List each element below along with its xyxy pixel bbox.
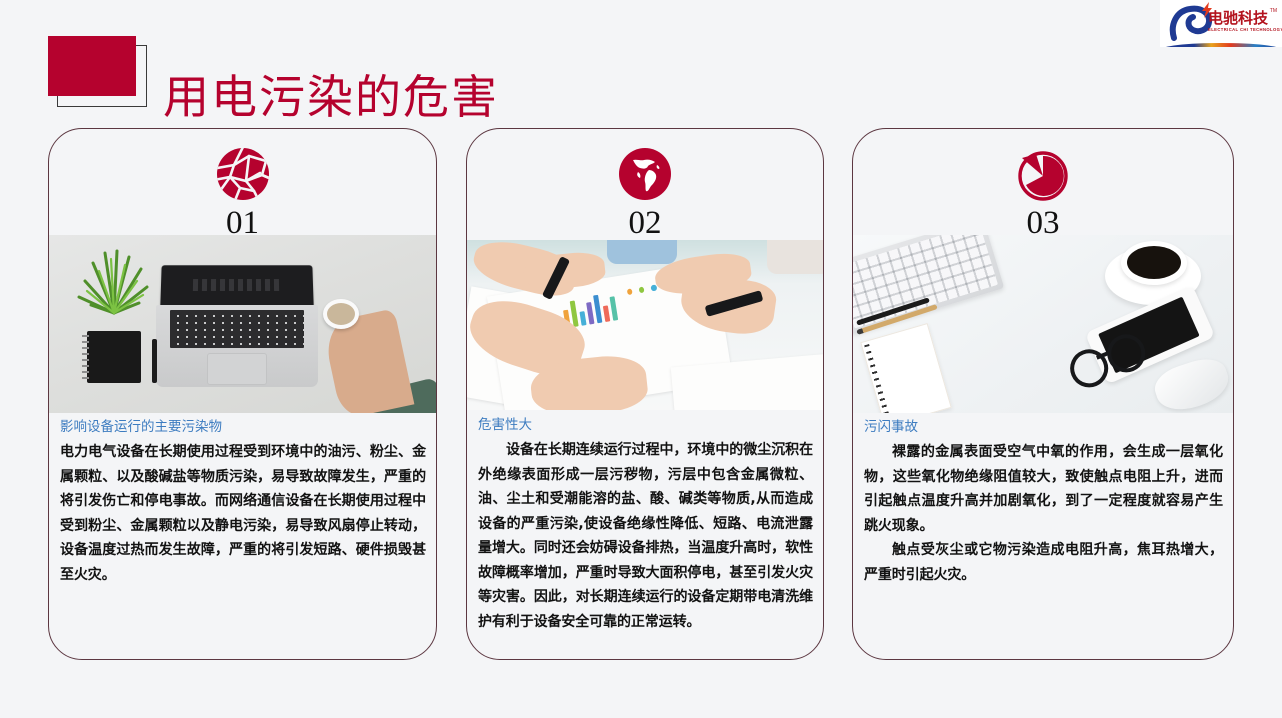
coffee-cup-graphic (1121, 241, 1187, 285)
card-03-paragraph-1: 裸露的金属表面受空气中氧的作用，会生成一层氧化物，这些氧化物绝缘阻值较大，致使触… (864, 440, 1223, 538)
card-01-subtitle: 影响设备运行的主要污染物 (60, 417, 426, 437)
white-desk-supplies-photo (853, 235, 1233, 413)
card-01-icon-wrap (49, 145, 436, 203)
card-02-paragraph: 设备在长期连续运行过程中，环境中的微尘沉积在外绝缘表面形成一层污秽物，污层中包含… (478, 438, 813, 634)
card-03-body: 污闪事故 裸露的金属表面受空气中氧的作用，会生成一层氧化物，这些氧化物绝缘阻值较… (853, 417, 1233, 587)
card-02-icon-wrap (467, 145, 823, 203)
person-shirt-graphic-2 (767, 240, 823, 274)
logo-name-cn: 电驰科技 (1208, 11, 1268, 26)
card-02[interactable]: 02 (466, 128, 824, 660)
pie-chart-slice-icon (1016, 147, 1070, 201)
card-01-photo (49, 235, 436, 413)
mouse-graphic (1150, 353, 1233, 413)
hands-charts-meeting-photo (467, 240, 823, 410)
logo-stripe (1160, 43, 1282, 47)
laptop-screen-graphic (160, 265, 313, 305)
card-01-text: 电力电气设备在长期使用过程受到环境中的油污、粉尘、金属颗粒、以及酸碱盐等物质污染… (60, 440, 426, 587)
card-01-paragraph: 电力电气设备在长期使用过程受到环境中的油污、粉尘、金属颗粒、以及酸碱盐等物质污染… (60, 440, 426, 587)
card-03-subtitle: 污闪事故 (864, 417, 1223, 437)
pen-graphic (152, 339, 157, 383)
card-02-photo (467, 240, 823, 410)
keyboard-graphic (853, 235, 1004, 335)
card-01[interactable]: 01 (48, 128, 437, 660)
person-shirt-graphic (607, 240, 677, 264)
title-accent-block (48, 36, 136, 96)
card-03-photo (853, 235, 1233, 413)
card-02-body: 危害性大 设备在长期连续运行过程中，环境中的微尘沉积在外绝缘表面形成一层污秽物，… (467, 415, 823, 634)
laptop-keyboard-graphic (170, 310, 304, 348)
card-01-body: 影响设备运行的主要污染物 电力电气设备在长期使用过程受到环境中的油污、粉尘、金属… (49, 417, 436, 587)
logo-trademark: TM (1270, 8, 1277, 14)
card-03[interactable]: 03 污闪事故 裸露的金属表面受空气中氧的作用，会生成一层氧化物，这些氧化物绝缘… (852, 128, 1234, 660)
page-title: 用电污染的危害 (163, 67, 499, 127)
slide-root: 电驰科技 ELECTRICAL CHI TECHNOLOGY TM 用电污染的危… (0, 0, 1282, 718)
logo-name-en: ELECTRICAL CHI TECHNOLOGY (1208, 27, 1282, 32)
company-logo: 电驰科技 ELECTRICAL CHI TECHNOLOGY TM (1160, 0, 1282, 47)
potted-plant-graphic (73, 243, 155, 315)
card-03-icon-wrap (853, 145, 1233, 203)
card-03-paragraph-2: 触点受灰尘或它物污染造成电阻升高，焦耳热增大，严重时引起火灾。 (864, 538, 1223, 587)
coffee-cup-graphic (323, 299, 359, 329)
laptop-trackpad-graphic (207, 353, 267, 385)
black-notebook-graphic (87, 331, 141, 383)
card-02-number: 02 (467, 203, 823, 243)
card-02-text: 设备在长期连续运行过程中，环境中的微尘沉积在外绝缘表面形成一层污秽物，污层中包含… (478, 438, 813, 634)
card-02-subtitle: 危害性大 (478, 415, 813, 435)
laptop-desk-flatlay-photo (49, 235, 436, 413)
card-03-text: 裸露的金属表面受空气中氧的作用，会生成一层氧化物，这些氧化物绝缘阻值较大，致使触… (864, 440, 1223, 587)
globe-americas-icon (618, 147, 672, 201)
spiral-notepad-graphic (860, 323, 952, 413)
cracked-globe-icon (216, 147, 270, 201)
